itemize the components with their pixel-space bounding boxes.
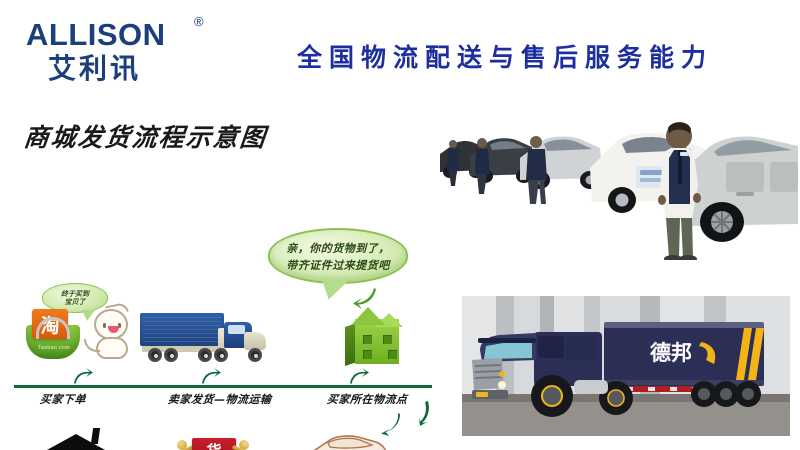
flow-step-label-1: 买家下单 <box>39 391 86 407</box>
shipping-flow-diagram: 商城发货流程示意图 亲，你的货物到了， 带齐证件过来提货吧 终于买到 宝贝了 淘… <box>0 100 440 450</box>
cargo-sign: 货 <box>192 438 236 450</box>
flow-step-label-2: 卖家发货—物流运输 <box>167 391 272 407</box>
flow-arrow-icon <box>348 368 370 386</box>
flow-rail-top <box>14 385 432 388</box>
fleet-photo-illustration <box>440 108 798 260</box>
pickup-notice-speech-bubble: 亲，你的货物到了， 带齐证件过来提货吧 <box>268 228 408 284</box>
truck-wheel <box>148 348 162 362</box>
truck-wheel <box>214 348 228 362</box>
logistics-point-house-icon <box>345 305 411 367</box>
fleet-photo <box>440 108 798 260</box>
flow-arrow-down-icon <box>352 286 374 304</box>
flow-arrow-wrap-icon <box>414 400 436 418</box>
truck-brand-text: 德邦 <box>650 341 692 365</box>
buyer-body <box>96 337 128 359</box>
shopping-basket-icon: 淘 Taobao.com <box>22 303 84 363</box>
flow-arrow-down-icon <box>378 412 400 430</box>
truck-trailer <box>140 313 224 346</box>
mover-figure-left <box>172 440 194 450</box>
mover-figure-right <box>232 440 254 450</box>
truck-photo-illustration: 德邦 <box>456 288 796 443</box>
deppon-truck-photo: 德邦 <box>456 288 796 443</box>
truck-wheel <box>198 348 212 362</box>
page-header: ALLISON ® 艾利讯 全国物流配送与售后服务能力 <box>0 0 800 100</box>
buyer-eye-left <box>103 323 106 328</box>
flow-step-label-3: 买家所在物流点 <box>326 391 408 407</box>
brand-logo-chinese: 艾利讯 <box>26 53 216 84</box>
diagram-title: 商城发货流程示意图 <box>22 118 269 154</box>
greenhouse-window <box>363 350 372 359</box>
cartoon-buyer-icon <box>84 305 140 363</box>
speech-bubble-line-1: 亲，你的货物到了， <box>286 240 390 256</box>
greenhouse-window <box>388 350 397 359</box>
house-roof <box>36 434 116 450</box>
buyer-hair <box>105 302 129 316</box>
flow-arrow-icon <box>200 368 222 386</box>
registered-trademark-icon: ® <box>194 14 204 29</box>
truck-wheel <box>248 348 262 362</box>
buyer-arm <box>84 339 100 352</box>
greenhouse-window <box>383 335 392 344</box>
brand-logo-latin: ALLISON <box>26 18 216 52</box>
movers-carrying-cargo-icon: 货 <box>170 432 256 450</box>
truck-wheel <box>164 348 178 362</box>
brand-logo: ALLISON ® 艾利讯 <box>26 18 216 84</box>
semi-truck-icon <box>140 310 272 365</box>
buyer-home-icon <box>36 428 116 450</box>
truck-window <box>228 325 245 334</box>
flow-arrow-icon <box>72 368 94 386</box>
speech-bubble-line-2: 带齐证件过来提货吧 <box>286 257 390 273</box>
greenhouse-window <box>363 335 372 344</box>
basket-brand-label: Taobao.com <box>34 345 74 351</box>
cargo-sign-glyph: 货 <box>192 438 236 450</box>
speech-bubble-text: 亲，你的货物到了， 带齐证件过来提货吧 <box>268 228 408 284</box>
page-title: 全国物流配送与售后服务能力 <box>240 38 770 74</box>
